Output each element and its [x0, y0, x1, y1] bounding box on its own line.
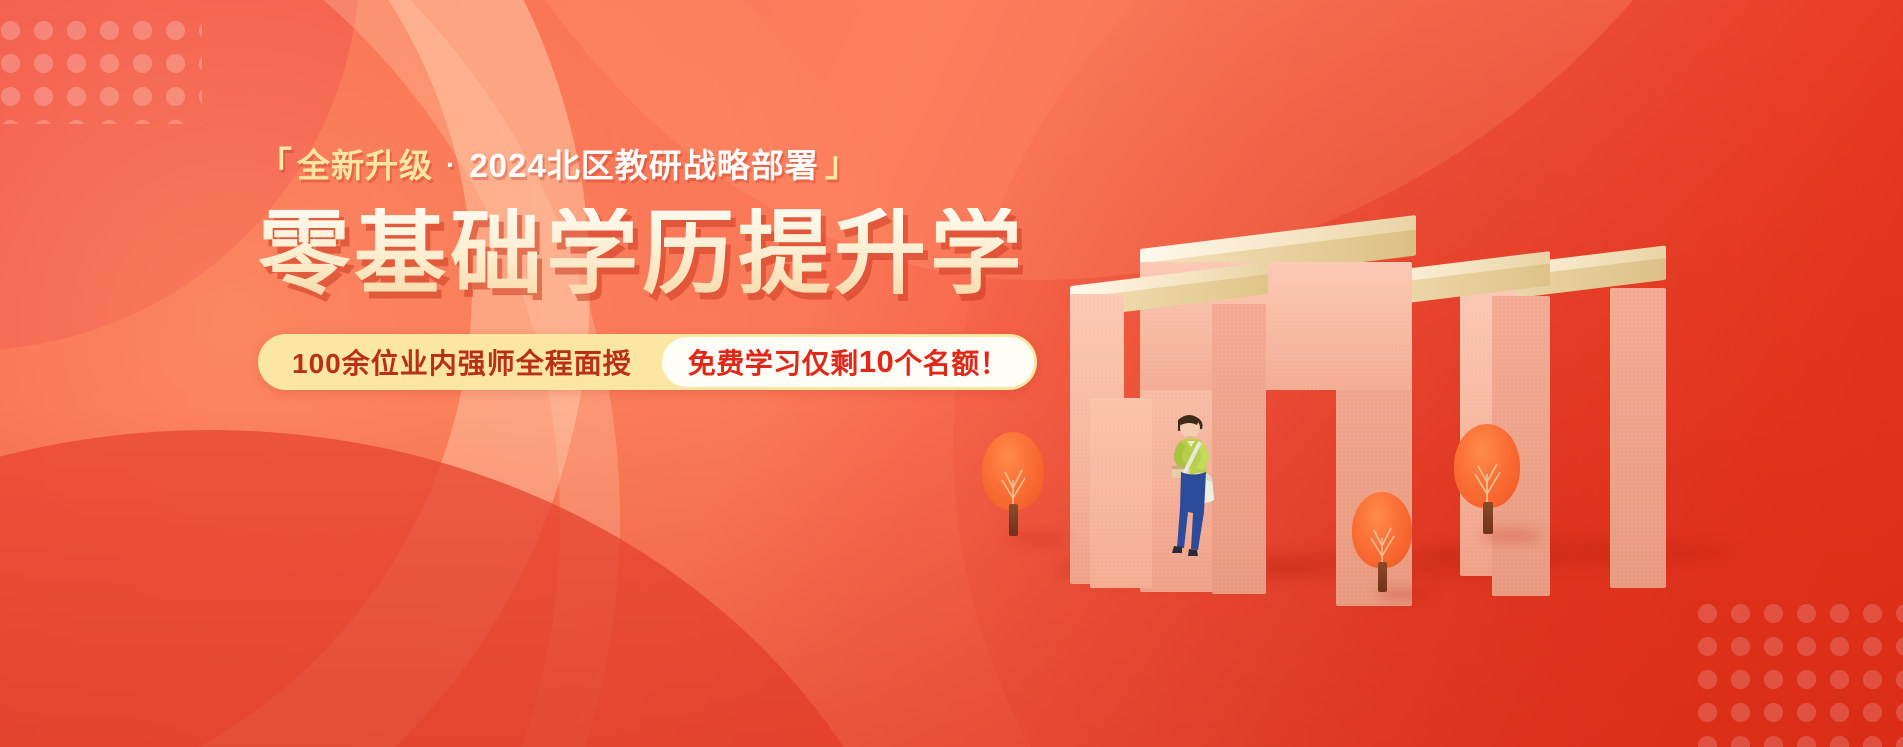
pill-seats-suffix: 个名额！: [894, 342, 1008, 382]
door-panel: [1090, 398, 1152, 588]
pill-seats-prefix: 免费学习仅剩: [688, 342, 859, 382]
page-title: 零基础学历提升学霸班: [258, 208, 1018, 300]
pill-seats-number: 10: [859, 344, 894, 380]
tree-left: [982, 432, 1050, 542]
book-arch-4-leg-right: [1610, 288, 1666, 588]
illustration-books-campus: [960, 0, 1903, 747]
tree-left-shadow: [1008, 532, 1066, 544]
eyebrow-line: 「 全新升级 · 2024北区教研战略部署 」: [258, 148, 1018, 182]
feature-pill-group[interactable]: 100余位业内强师全程面授 免费学习仅剩 10 个名额！: [258, 334, 1037, 390]
pill-teachers-label: 100余位业内强师全程面授: [258, 334, 662, 390]
tree-mid-shadow: [1376, 588, 1434, 600]
student-figure-svg: [1150, 408, 1236, 558]
eyebrow-plain: 2024北区教研战略部署: [469, 149, 818, 182]
promo-banner: 「 全新升级 · 2024北区教研战略部署 」 零基础学历提升学霸班 100余位…: [0, 0, 1903, 747]
eyebrow-highlight: 全新升级: [297, 149, 433, 182]
tree-right-trunk: [1483, 502, 1493, 534]
bracket-close-icon: 」: [825, 148, 860, 182]
pill-seats-remaining[interactable]: 免费学习仅剩 10 个名额！: [662, 337, 1035, 387]
tree-right-shadow: [1480, 530, 1542, 542]
tree-left-trunk: [1009, 504, 1018, 536]
tree-mid: [1352, 492, 1418, 598]
tree-mid-trunk: [1378, 562, 1387, 592]
dot-grid-top-left: [0, 14, 202, 124]
tree-right: [1454, 424, 1526, 540]
banner-copy: 「 全新升级 · 2024北区教研战略部署 」 零基础学历提升学霸班 100余位…: [258, 148, 1018, 390]
bracket-open-icon: 「: [258, 148, 293, 182]
student-walking: [1150, 408, 1236, 558]
eyebrow-separator-dot-icon: ·: [446, 151, 456, 179]
